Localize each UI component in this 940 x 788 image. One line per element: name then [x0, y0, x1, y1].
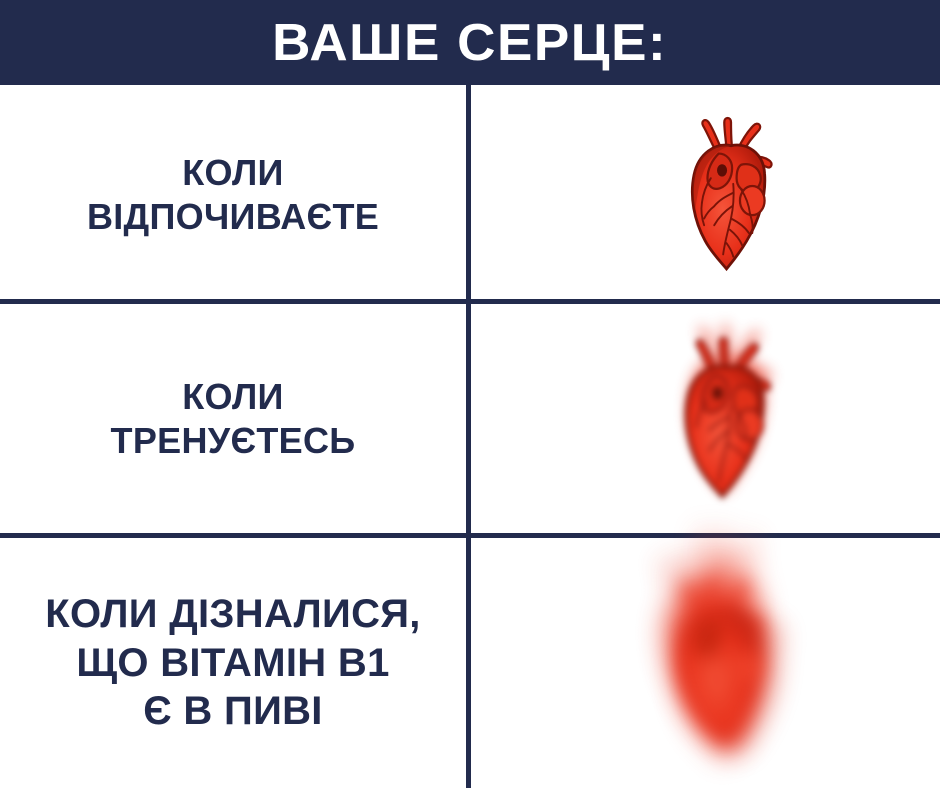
heart-icon	[652, 564, 795, 762]
row-label-cell: КОЛИ ВІДПОЧИВАЄТЕ	[0, 90, 466, 299]
row-label-text: КОЛИ ВІДПОЧИВАЄТЕ	[87, 151, 379, 239]
meme-image: ВАШЕ СЕРЦЕ: КОЛИ ВІДПОЧИВАЄТЕ	[0, 0, 940, 788]
heart-sharp	[675, 109, 787, 281]
row-media-cell	[466, 90, 940, 299]
heart-icon	[675, 109, 787, 281]
row-label-cell: КОЛИ ДІЗНАЛИСЯ, ЩО ВІТАМІН В1 Є В ПИВІ	[0, 538, 466, 788]
table-row: КОЛИ ВІДПОЧИВАЄТЕ	[0, 90, 940, 299]
heart-icon	[668, 330, 786, 508]
page-title: ВАШЕ СЕРЦЕ:	[272, 17, 667, 69]
heart-blurred	[668, 330, 786, 508]
table-row: КОЛИ ДІЗНАЛИСЯ, ЩО ВІТАМІН В1 Є В ПИВІ	[0, 538, 940, 788]
header-bar: ВАШЕ СЕРЦЕ:	[0, 0, 940, 85]
row-label-text: КОЛИ ДІЗНАЛИСЯ, ЩО ВІТАМІН В1 Є В ПИВІ	[45, 590, 420, 736]
row-label-text: КОЛИ ТРЕНУЄТЕСЬ	[111, 375, 356, 463]
row-label-cell: КОЛИ ТРЕНУЄТЕСЬ	[0, 304, 466, 533]
heart-heavily-blurred	[652, 564, 795, 762]
row-media-cell	[466, 538, 940, 788]
row-media-cell	[466, 304, 940, 533]
table-row: КОЛИ ТРЕНУЄТЕСЬ	[0, 304, 940, 533]
